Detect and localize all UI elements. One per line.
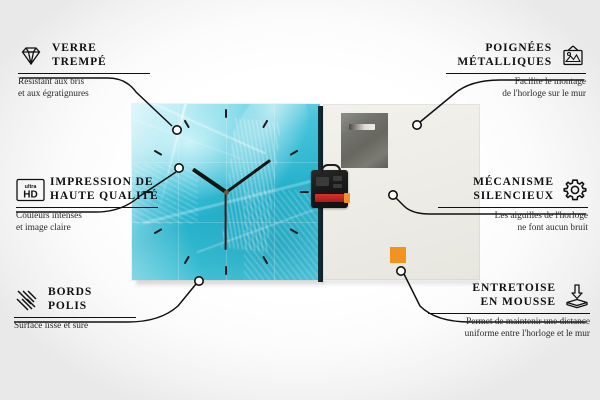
polished-edges-icon	[14, 287, 40, 313]
feature-title-line2: TREMPÉ	[52, 56, 107, 70]
mechanism-detail-1	[316, 177, 329, 186]
clock-tick	[225, 109, 227, 118]
clock-tick	[290, 150, 299, 156]
battery-positive-terminal	[344, 193, 350, 203]
feature-sub-line1: Résistant aux bris	[18, 77, 158, 89]
clock-minute-hand	[225, 159, 270, 193]
feature-title-line1: ENTRETOISE	[472, 282, 556, 296]
feature-sub-line1: Les aiguilles de l'horloge	[424, 211, 588, 223]
ultra-hd-icon: ultra HD	[16, 177, 42, 203]
feature-rule	[438, 207, 588, 208]
clock-second-hand	[225, 192, 227, 250]
feature-poignees-metalliques[interactable]: POIGNÉES MÉTALLIQUES Facilite le montage…	[430, 42, 586, 100]
ultra-hd-icon-bottom: HD	[23, 189, 37, 200]
hanger-slot	[349, 124, 375, 130]
clock-tick	[300, 191, 309, 193]
feature-title-line2: HAUTE QUALITÉ	[50, 190, 159, 204]
clock-tick	[184, 120, 190, 129]
feature-rule	[428, 313, 590, 314]
feature-title-line1: BORDS	[48, 286, 92, 300]
clock-hour-hand	[192, 168, 227, 194]
feature-sub-line2: et image claire	[16, 223, 166, 235]
feature-sub-line2: uniforme entre l'horloge et le mur	[414, 329, 590, 341]
battery	[315, 194, 344, 202]
clock-tick	[290, 228, 299, 234]
feature-rule	[16, 207, 158, 208]
feature-sub-line2: et aux égratignures	[18, 89, 158, 101]
feature-sub-line1: Facilite le montage	[430, 77, 586, 89]
feature-rule	[18, 73, 150, 74]
clock-tick	[262, 120, 268, 129]
feature-title-line2: EN MOUSSE	[472, 296, 556, 310]
feature-title-line2: POLIS	[48, 300, 92, 314]
feature-mecanisme-silencieux[interactable]: MÉCANISME SILENCIEUX Les aiguilles de l'…	[424, 176, 588, 234]
feature-title-line2: SILENCIEUX	[473, 190, 554, 204]
gear-icon	[562, 177, 588, 203]
feature-sub-line1: Surface lisse et sûre	[14, 321, 144, 333]
feature-verre-trempe[interactable]: VERRE TREMPÉ Résistant aux bris et aux é…	[18, 42, 158, 100]
clock-tick	[225, 266, 227, 275]
infographic-canvas: VERRE TREMPÉ Résistant aux bris et aux é…	[0, 0, 600, 400]
clock-tick	[154, 150, 163, 156]
feature-title-line1: POIGNÉES	[457, 42, 552, 56]
clock-tick	[184, 256, 190, 265]
feature-sub-line2: de l'horloge sur le mur	[430, 89, 586, 101]
clock-center-cap	[224, 190, 229, 195]
metal-hanger-plate	[341, 113, 388, 168]
mechanism-detail-2	[333, 176, 342, 181]
clock-drop-shadow	[136, 280, 324, 287]
feature-sub-line2: ne font aucun bruit	[424, 223, 588, 235]
clock-tick	[262, 256, 268, 265]
diamond-icon	[18, 43, 44, 69]
feature-impression-haute-qualite[interactable]: ultra HD IMPRESSION DE HAUTE QUALITÉ Cou…	[16, 176, 166, 234]
feature-sub-line1: Permet de maintenir une distance	[414, 317, 590, 329]
mechanism-detail-3	[333, 184, 342, 188]
wall-frame-icon	[560, 43, 586, 69]
feature-title-line1: VERRE	[52, 42, 107, 56]
clock-mechanism-box	[311, 170, 348, 208]
feature-title-line2: MÉTALLIQUES	[457, 56, 552, 70]
feature-sub-line1: Couleurs intenses	[16, 211, 166, 223]
foam-spacer	[390, 247, 406, 263]
feature-title-line1: IMPRESSION DE	[50, 176, 159, 190]
feature-entretoise-en-mousse[interactable]: ENTRETOISE EN MOUSSE Permet de maintenir…	[414, 282, 590, 340]
mechanism-hanger-loop	[321, 164, 341, 175]
feature-bords-polis[interactable]: BORDS POLIS Surface lisse et sûre	[14, 286, 144, 333]
foam-spacer-icon	[564, 283, 590, 309]
feature-title-line1: MÉCANISME	[473, 176, 554, 190]
feature-rule	[14, 317, 136, 318]
feature-rule	[446, 73, 586, 74]
